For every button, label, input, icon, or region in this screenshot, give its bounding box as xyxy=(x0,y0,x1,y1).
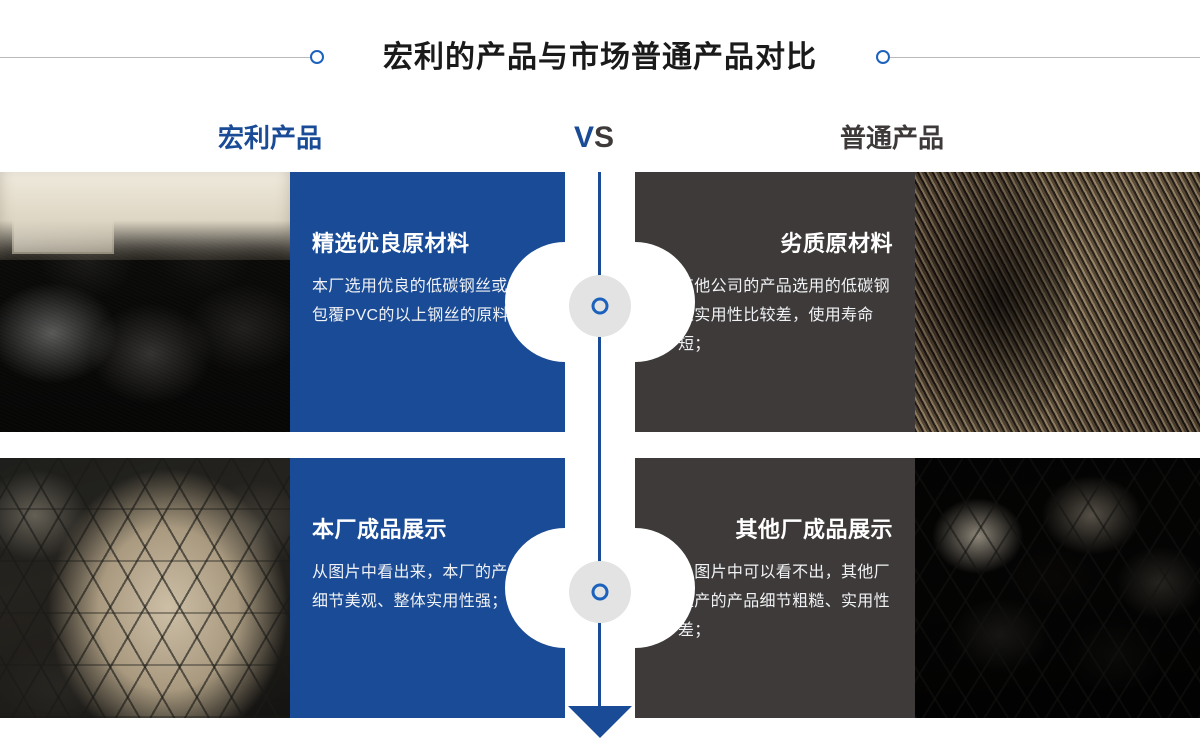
page-title: 宏利的产品与市场普通产品对比 xyxy=(0,30,1200,86)
column-label-good: 宏利产品 xyxy=(218,118,322,158)
column-label-bad: 普通产品 xyxy=(840,118,944,158)
spine-node-2-ring-icon xyxy=(592,584,609,601)
spine-node-2 xyxy=(569,561,631,623)
spine-vertical-line xyxy=(598,172,601,732)
photo-bad-1 xyxy=(915,172,1200,432)
spine-down-arrow-icon xyxy=(568,706,632,738)
vs-letter-v: V xyxy=(574,121,594,154)
photo-good-2 xyxy=(0,458,290,718)
rough-gabion-rock-photo xyxy=(915,458,1200,718)
page-header: 宏利的产品与市场普通产品对比 xyxy=(0,0,1200,110)
steel-wire-coils-photo xyxy=(0,172,290,432)
panel-good-2-title: 本厂成品展示 xyxy=(312,515,447,545)
panel-good-2: 本厂成品展示 从图片中看出来，本厂的产品细节美观、整体实用性强； xyxy=(290,458,565,718)
panel-good-1-body: 本厂选用优良的低碳钢丝或者包覆PVC的以上钢丝的原料； xyxy=(312,272,530,330)
header-rule-right xyxy=(890,57,1200,58)
panel-bad-2: 其他厂成品展示 从图片中可以看不出，其他厂生产的产品细节粗糙、实用性差； xyxy=(635,458,915,718)
spine-node-1-ring-icon xyxy=(592,298,609,315)
photo-good-1 xyxy=(0,172,290,432)
panel-good-1: 精选优良原材料 本厂选用优良的低碳钢丝或者包覆PVC的以上钢丝的原料； xyxy=(290,172,565,432)
panel-bad-1: 劣质原材料 其他公司的产品选用的低碳钢丝实用性比较差，使用寿命短； xyxy=(635,172,915,432)
panel-bad-2-body: 从图片中可以看不出，其他厂生产的产品细节粗糙、实用性差； xyxy=(678,558,893,645)
panel-bad-1-body: 其他公司的产品选用的低碳钢丝实用性比较差，使用寿命短； xyxy=(678,272,893,359)
comparison-infographic: 宏利的产品与市场普通产品对比 宏利产品 VS 普通产品 精选优良原材料 本厂选用… xyxy=(0,0,1200,738)
vs-letter-s: S xyxy=(594,121,614,154)
vs-label: VS xyxy=(574,118,614,158)
header-circle-right-icon xyxy=(876,50,890,64)
panel-bad-2-title: 其他厂成品展示 xyxy=(735,515,893,545)
panel-good-1-title: 精选优良原材料 xyxy=(312,229,470,259)
spine-node-1 xyxy=(569,275,631,337)
photo-bad-2 xyxy=(915,458,1200,718)
panel-good-2-body: 从图片中看出来，本厂的产品细节美观、整体实用性强； xyxy=(312,558,530,616)
rusty-wire-bundle-photo xyxy=(915,172,1200,432)
panel-bad-1-title: 劣质原材料 xyxy=(780,229,893,259)
gabion-mesh-boulder-photo xyxy=(0,458,290,718)
